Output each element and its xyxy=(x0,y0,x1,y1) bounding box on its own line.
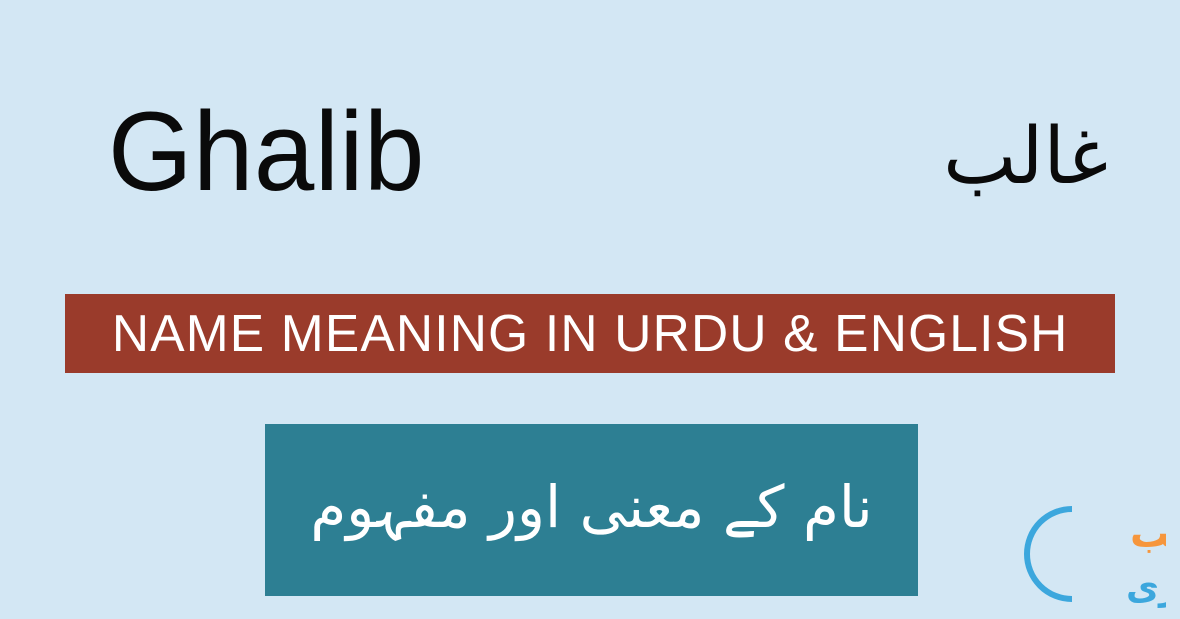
latin-name-heading: Ghalib xyxy=(108,92,787,212)
logo-word-top: ویب xyxy=(1130,511,1166,557)
subhead-banner-text: نام کے معنی اور مفہوم xyxy=(310,468,872,552)
headline-banner-text: NAME MEANING IN URDU & ENGLISH xyxy=(112,304,1069,364)
urdu-name-heading: غالب xyxy=(868,82,1108,232)
subhead-banner: نام کے معنی اور مفہوم xyxy=(265,424,918,596)
site-logo[interactable]: ویب ہماری xyxy=(1006,495,1166,613)
banner-canvas: Ghalib غالب NAME MEANING IN URDU & ENGLI… xyxy=(0,0,1180,619)
logo-word-bottom: ہماری xyxy=(1126,567,1166,608)
logo-arc-icon xyxy=(1027,509,1072,599)
site-logo-mark: ویب ہماری xyxy=(1006,495,1166,613)
headline-banner: NAME MEANING IN URDU & ENGLISH xyxy=(65,294,1115,373)
